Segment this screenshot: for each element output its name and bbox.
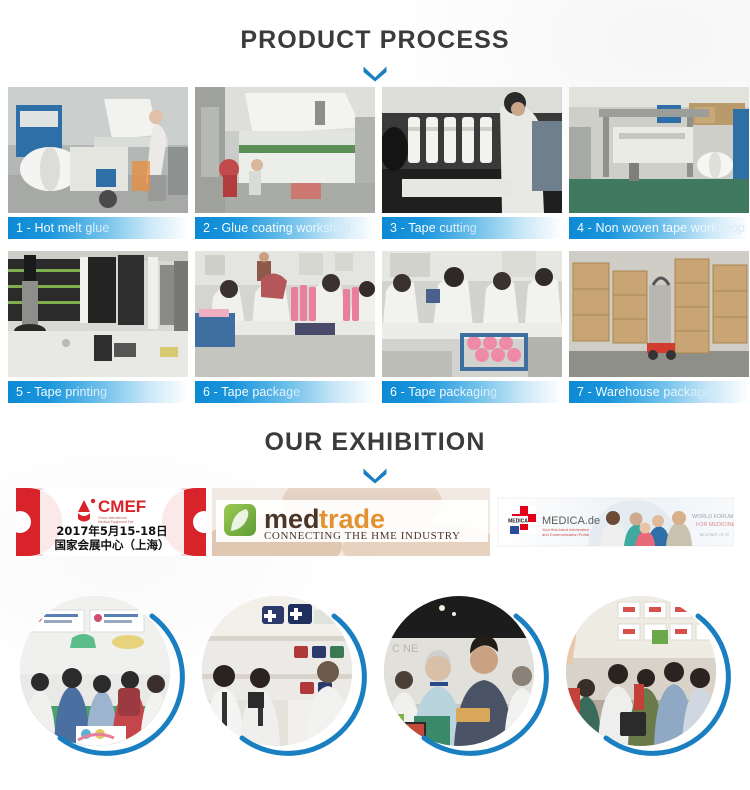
medical-cross-icon: MEDICA <box>508 506 536 534</box>
chevron-down-icon <box>362 466 388 484</box>
process-caption-text: 7 - Warehouse package <box>569 385 711 399</box>
process-tile[interactable]: 6 - Tape package <box>195 251 375 403</box>
process-caption-text: 1 - Hot melt glue <box>8 221 109 235</box>
exhibition-photo-1-image <box>20 596 170 746</box>
process-tile[interactable]: 6 - Tape packaging <box>382 251 562 403</box>
medtrade-banner[interactable]: med trade CONNECTING THE HME INDUSTRY <box>212 488 490 556</box>
cmef-logo-text: CMEF <box>98 497 146 516</box>
medica-logo-text: MEDICA.de <box>542 515 600 527</box>
process-tile[interactable]: 2 - Glue coating workshop <box>195 87 375 239</box>
product-process-page: PRODUCT PROCESS <box>0 0 750 790</box>
cmef-date-line: 2017年5月15-18日 <box>56 524 167 538</box>
our-exhibition-section: OUR EXHIBITION <box>0 428 750 484</box>
process-caption-text: 5 - Tape printing <box>8 385 107 399</box>
exhibition-photo-row: C NE <box>12 588 738 756</box>
medica-slogan-2: FOR MEDICINE <box>696 522 734 528</box>
process-caption-text: 2 - Glue coating workshop <box>195 221 351 235</box>
svg-text:C NE: C NE <box>392 643 418 655</box>
chevron-down-icon <box>362 64 388 82</box>
exhibition-photo-3-image: C NE <box>384 596 534 746</box>
cmef-venue-line: 国家会展中心（上海） <box>55 538 170 552</box>
process-caption-text: 6 - Tape packaging <box>382 385 497 399</box>
process-tile[interactable]: 1 - Hot melt glue <box>8 87 188 239</box>
process-photo-6 <box>195 251 375 377</box>
process-photo-7 <box>382 251 562 377</box>
process-tile[interactable]: 3 - Tape cutting <box>382 87 562 239</box>
process-tile[interactable]: 4 - Non woven tape workshop <box>569 87 749 239</box>
medica-tagline-2: and Communication Portal <box>542 532 589 537</box>
process-caption: 7 - Warehouse package <box>569 381 749 403</box>
product-process-section: PRODUCT PROCESS <box>0 26 750 82</box>
medica-banner[interactable]: MEDICA MEDICA.de Your first-hand Informa… <box>496 488 734 556</box>
process-photo-8 <box>569 251 749 377</box>
process-caption-text: 6 - Tape package <box>195 385 300 399</box>
process-photo-3 <box>382 87 562 213</box>
process-caption: 2 - Glue coating workshop <box>195 217 375 239</box>
exhibition-photo-1[interactable] <box>12 588 188 756</box>
medica-slogan-3: BE A PART OF IT! <box>700 533 729 537</box>
process-caption: 1 - Hot melt glue <box>8 217 188 239</box>
exhibition-photo-4-image <box>566 596 716 746</box>
product-process-row-1: 1 - Hot melt glue <box>8 87 742 239</box>
process-caption: 6 - Tape packaging <box>382 381 562 403</box>
process-caption-text: 3 - Tape cutting <box>382 221 477 235</box>
process-caption-text: 4 - Non woven tape workshop <box>569 221 745 235</box>
exhibition-photo-2[interactable] <box>194 588 370 756</box>
cmef-banner[interactable]: CMEF China International Medical Equipme… <box>16 488 206 556</box>
exhibition-photo-3[interactable]: C NE <box>376 588 552 756</box>
process-photo-5 <box>8 251 188 377</box>
exhibition-photo-2-image <box>202 596 352 746</box>
product-process-row-2: 5 - Tape printing <box>8 251 742 403</box>
svg-text:MEDICA: MEDICA <box>508 519 528 525</box>
our-exhibition-heading: OUR EXHIBITION <box>0 428 750 457</box>
process-caption: 5 - Tape printing <box>8 381 188 403</box>
process-photo-2 <box>195 87 375 213</box>
process-tile[interactable]: 7 - Warehouse package <box>569 251 749 403</box>
process-tile[interactable]: 5 - Tape printing <box>8 251 188 403</box>
medica-slogan-1: WORLD FORUM <box>692 514 734 520</box>
exhibition-photo-4[interactable] <box>558 588 734 756</box>
process-caption: 4 - Non woven tape workshop <box>569 217 749 239</box>
exhibition-banner-row: CMEF China International Medical Equipme… <box>16 488 734 556</box>
process-caption: 3 - Tape cutting <box>382 217 562 239</box>
medtrade-tagline: CONNECTING THE HME INDUSTRY <box>264 530 461 542</box>
process-photo-1 <box>8 87 188 213</box>
product-process-heading: PRODUCT PROCESS <box>0 26 750 55</box>
process-photo-4 <box>569 87 749 213</box>
process-caption: 6 - Tape package <box>195 381 375 403</box>
